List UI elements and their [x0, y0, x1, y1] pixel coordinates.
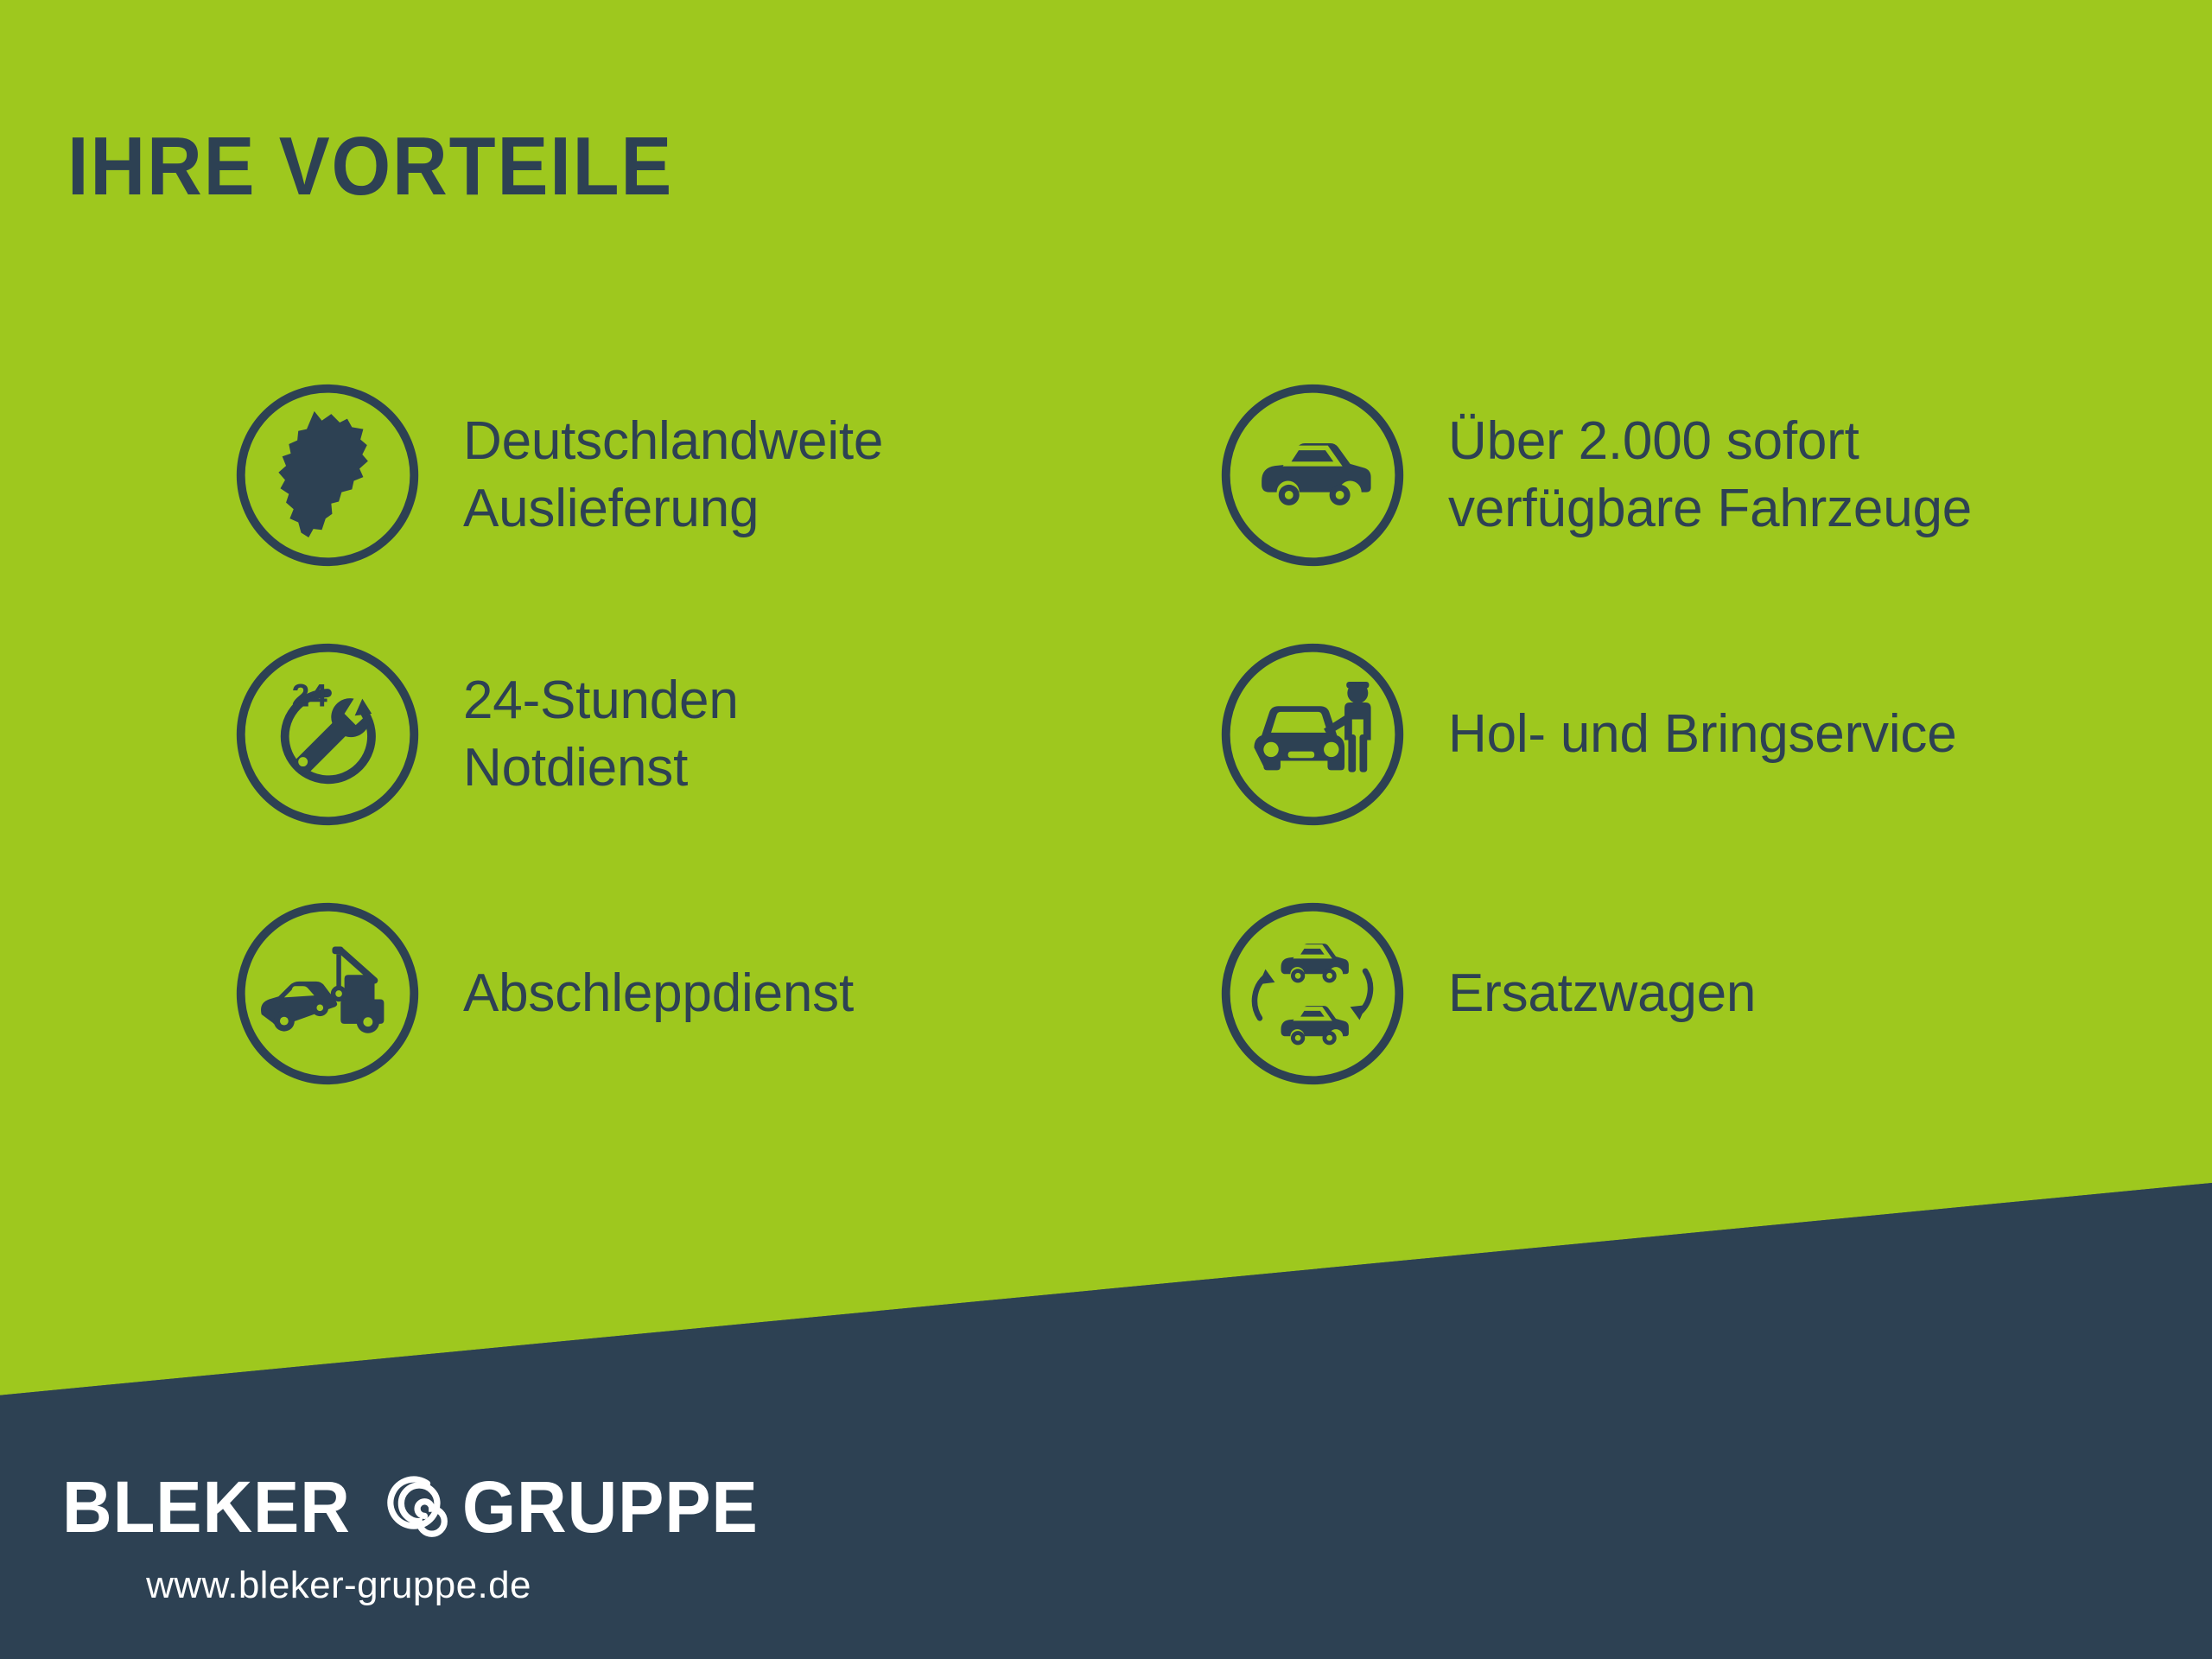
logo-text-gruppe: GRUPPE: [462, 1471, 759, 1543]
24-hour-wrench-icon: 24: [233, 640, 422, 829]
svg-text:24: 24: [292, 677, 328, 713]
benefit-label: Deutschlandweite Auslieferung: [422, 408, 1218, 543]
benefit-item: Ersatzwagen: [1218, 864, 2100, 1123]
logo: BLEKER GRUPPE: [62, 1462, 774, 1552]
benefit-label: 24-Stunden Notdienst: [422, 667, 1218, 802]
car-with-driver-icon: [1218, 640, 1407, 829]
car-side-icon: [1218, 381, 1407, 569]
benefit-item: Hol- und Bringservice: [1218, 605, 2100, 864]
footer-branding: BLEKER GRUPPE www.bleker-gruppe.de: [62, 1462, 774, 1607]
benefit-item: Abschleppdienst: [233, 864, 1218, 1123]
tow-truck-icon: [233, 899, 422, 1088]
logo-text-bleker: BLEKER: [62, 1471, 351, 1543]
benefits-grid: Deutschlandweite Auslieferung Über 2.000…: [233, 346, 2100, 1123]
benefit-label: Hol- und Bringservice: [1407, 701, 2100, 768]
benefit-item: Über 2.000 sofort verfügbare Fahrzeuge: [1218, 346, 2100, 605]
website-url: www.bleker-gruppe.de: [62, 1564, 615, 1607]
benefit-item: Deutschlandweite Auslieferung: [233, 346, 1218, 605]
slide-root: IHRE VORTEILE Deutschlandweite Ausliefer…: [0, 0, 2212, 1659]
benefit-item: 24 24-Stunden Notdienst: [233, 605, 1218, 864]
benefit-label: Ersatzwagen: [1407, 960, 2100, 1027]
spiral-icon: [371, 1462, 461, 1552]
germany-map-icon: [233, 381, 422, 569]
car-exchange-icon: [1218, 899, 1407, 1088]
benefit-label: Über 2.000 sofort verfügbare Fahrzeuge: [1407, 408, 2100, 543]
page-title: IHRE VORTEILE: [67, 125, 673, 208]
benefit-label: Abschleppdienst: [422, 960, 1218, 1027]
